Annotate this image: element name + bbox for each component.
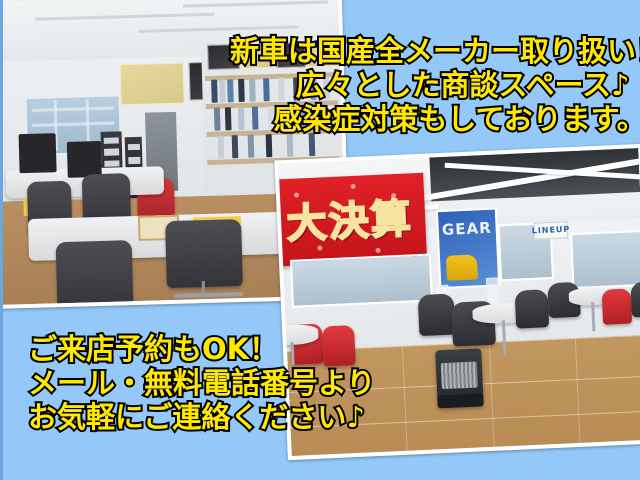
sofa-dark — [630, 282, 640, 318]
caption-top: 新車は国産全メーカー取り扱い！ 広々とした商談スペース♪ 感染症対策もしておりま… — [230, 34, 640, 137]
lineup-sign: LINEUP — [533, 221, 568, 239]
advert-canvas: 大決算 GEAR LINEUP — [0, 0, 640, 480]
caption-bottom-line-1: ご来店予約もOK！ — [28, 332, 375, 366]
sofa-dark — [418, 294, 456, 336]
chair-dark — [56, 240, 134, 304]
sofa-dark — [515, 289, 549, 328]
office-window — [570, 230, 640, 290]
air-purifier — [435, 348, 484, 408]
caption-bottom-line-2: メール・無料電話番号より — [28, 366, 375, 400]
car-poster-text: GEAR — [442, 218, 492, 238]
lineup-sign-text: LINEUP — [532, 225, 571, 236]
caption-bottom: ご来店予約もOK！ メール・無料電話番号より お気軽にご連絡ください♪ — [28, 332, 375, 435]
caption-top-line-1: 新車は国産全メーカー取り扱い！ — [230, 34, 640, 68]
caption-bottom-line-3: お気軽にご連絡ください♪ — [28, 400, 375, 434]
chair-dark — [165, 219, 243, 288]
sale-banner: 大決算 — [279, 172, 427, 266]
counter-window — [290, 254, 433, 308]
wall-poster-car — [119, 62, 184, 105]
caption-top-line-3: 感染症対策もしております。 — [254, 102, 640, 136]
monitor — [18, 133, 57, 174]
monitor — [67, 141, 102, 178]
chair-red — [601, 289, 631, 325]
caption-top-line-2: 広々とした商談スペース♪ — [260, 68, 640, 102]
